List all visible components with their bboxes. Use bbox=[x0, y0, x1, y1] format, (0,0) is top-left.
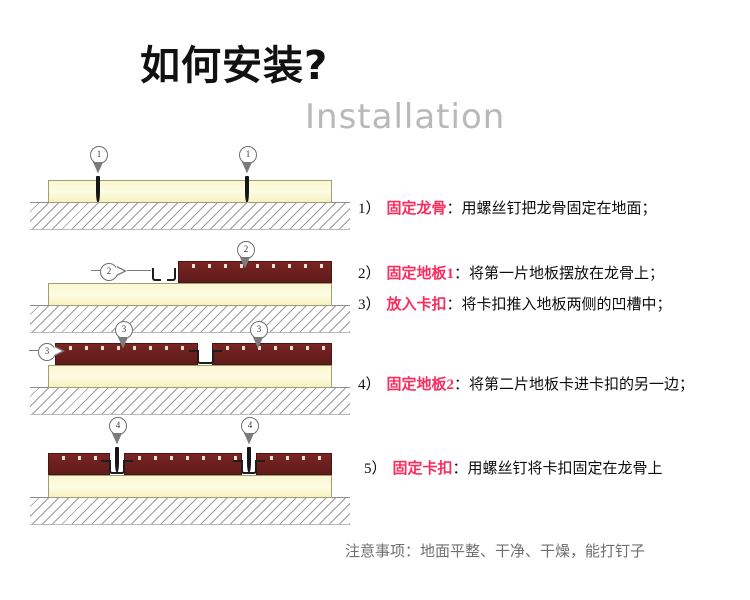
callout-lead-line bbox=[29, 350, 38, 351]
step-body: ：用螺丝钉把龙骨固定在地面； bbox=[447, 201, 657, 217]
footer-note: 注意事项：地面平整、干净、干燥，能打钉子 bbox=[345, 540, 645, 561]
callout-marker-4-right: 4 bbox=[241, 417, 257, 433]
callout-arrow-down-icon bbox=[244, 433, 254, 444]
clip-ear-right-a bbox=[233, 460, 242, 462]
screw-left bbox=[96, 176, 100, 202]
step-number: 2） bbox=[358, 266, 381, 282]
callout-arrow-down-icon bbox=[253, 337, 263, 348]
board-groove-ticks bbox=[179, 264, 331, 268]
clip-piece-right bbox=[167, 268, 176, 281]
floorboard-right bbox=[256, 453, 332, 475]
callout-arrow-down-icon bbox=[118, 337, 128, 348]
board-groove-ticks bbox=[257, 456, 331, 460]
floorboard-middle bbox=[124, 453, 242, 475]
callout-lead-line bbox=[91, 270, 100, 271]
step-number: 3） bbox=[358, 297, 381, 313]
clip-ear-left-a bbox=[101, 460, 110, 462]
board-groove-ticks bbox=[213, 346, 331, 350]
clip-center bbox=[197, 350, 214, 364]
step-item-4: 4）固定地板2：将第二片地板卡进卡扣的另一边； bbox=[358, 378, 694, 393]
callout-arrow-down-icon bbox=[242, 162, 252, 173]
step-item-1: 1）固定龙骨：用螺丝钉把龙骨固定在地面； bbox=[358, 202, 657, 217]
ground-hatch bbox=[30, 202, 350, 230]
callout-marker-3-left: 3 bbox=[38, 343, 54, 359]
step-keyword: 固定卡扣 bbox=[387, 461, 453, 477]
step-keyword: 固定地板2 bbox=[381, 377, 455, 393]
screw-right bbox=[245, 176, 249, 202]
ground-hatch bbox=[30, 497, 350, 525]
callout-tail bbox=[127, 270, 151, 271]
joist-layer bbox=[48, 283, 332, 306]
callout-arrow-down-icon bbox=[240, 257, 250, 268]
callout-arrow-down-icon bbox=[93, 162, 103, 173]
callout-arrow-down-icon bbox=[112, 433, 122, 444]
board-groove-ticks bbox=[49, 456, 109, 460]
step-keyword: 固定龙骨 bbox=[381, 201, 447, 217]
screw-right bbox=[247, 447, 251, 472]
floorboard-left bbox=[48, 453, 110, 475]
step-keyword: 放入卡扣 bbox=[381, 297, 447, 313]
installation-diagram-page: 如何安装? Installation 1 1 2 bbox=[0, 0, 750, 600]
callout-arrow-right-icon bbox=[117, 266, 127, 276]
screw-left bbox=[115, 447, 119, 472]
clip-ear-left-b bbox=[124, 460, 133, 462]
clip-ear-right-b bbox=[256, 460, 265, 462]
step-number: 1） bbox=[358, 201, 381, 217]
step-body: ：将卡扣推入地板两侧的凹槽中； bbox=[447, 297, 672, 313]
joist-layer bbox=[48, 180, 332, 203]
step-number: 5） bbox=[364, 461, 387, 477]
callout-marker-1-right: 1 bbox=[239, 146, 255, 162]
diagram-panel-step-3: 3 3 3 bbox=[30, 325, 350, 425]
clip-ear-right bbox=[213, 350, 222, 352]
joist-layer bbox=[48, 365, 332, 388]
callout-marker-2-left: 2 bbox=[100, 263, 116, 279]
joist-layer bbox=[48, 475, 332, 498]
step-item-2: 2）固定地板1：将第一片地板摆放在龙骨上； bbox=[358, 267, 664, 282]
clip-piece-left bbox=[152, 268, 161, 281]
page-title-chinese: 如何安装? bbox=[140, 46, 328, 86]
callout-marker-4-left: 4 bbox=[109, 417, 125, 433]
diagram-panel-step-1: 1 1 bbox=[30, 140, 350, 235]
floorboard-right bbox=[212, 343, 332, 365]
step-body: ：将第二片地板卡进卡扣的另一边； bbox=[454, 377, 694, 393]
ground-hatch bbox=[30, 387, 350, 415]
clip-ear-left bbox=[189, 350, 198, 352]
callout-marker-3-mid: 3 bbox=[115, 321, 131, 337]
page-title-english: Installation bbox=[305, 100, 505, 134]
step-body: ：将第一片地板摆放在龙骨上； bbox=[454, 266, 664, 282]
floorboard-first bbox=[178, 261, 332, 283]
step-keyword: 固定地板1 bbox=[381, 266, 455, 282]
callout-marker-2-top: 2 bbox=[237, 241, 253, 257]
step-item-5: 5）固定卡扣：用螺丝钉将卡扣固定在龙骨上 bbox=[364, 462, 663, 477]
step-body: ：用螺丝钉将卡扣固定在龙骨上 bbox=[453, 461, 663, 477]
callout-marker-1-left: 1 bbox=[90, 146, 106, 162]
step-number: 4） bbox=[358, 377, 381, 393]
step-item-3: 3）放入卡扣：将卡扣推入地板两侧的凹槽中； bbox=[358, 298, 672, 313]
callout-marker-3-right: 3 bbox=[250, 321, 266, 337]
callout-arrow-right-icon bbox=[55, 346, 65, 356]
board-groove-ticks bbox=[125, 456, 241, 460]
diagram-panel-step-4: 4 4 bbox=[30, 425, 350, 525]
